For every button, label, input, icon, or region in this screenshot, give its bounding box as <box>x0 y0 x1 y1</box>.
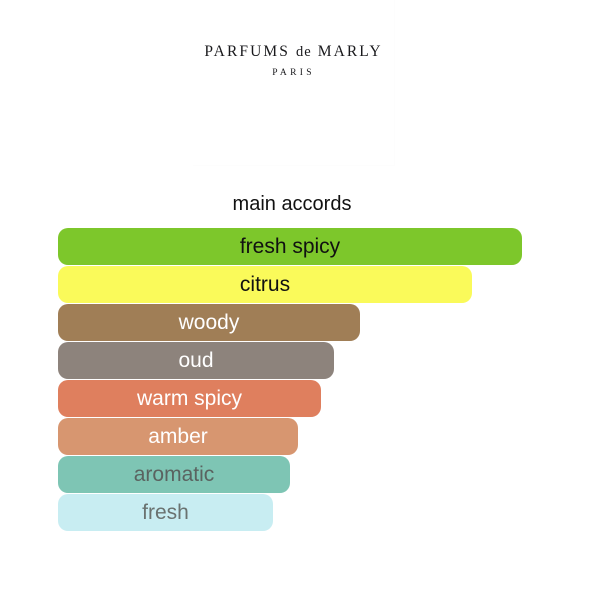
accord-bar-fill <box>58 418 298 455</box>
brand-name: PARFUMS de MARLY <box>193 44 394 60</box>
accord-bar-row[interactable]: citrus <box>0 266 600 303</box>
accord-bar-fill <box>58 228 522 265</box>
main-accords-chart: main accords fresh spicycitruswoodyoudwa… <box>0 191 600 532</box>
accord-bar-fill <box>58 266 472 303</box>
brand-city: PARIS <box>193 69 394 79</box>
accord-bar-row[interactable]: woody <box>0 304 600 341</box>
brand-logo: PARFUMS de MARLY PARIS <box>193 44 394 78</box>
brand-name-de: de <box>296 44 312 60</box>
accord-bar-fill <box>58 304 360 341</box>
chart-title: main accords <box>0 191 600 217</box>
accord-bar-row[interactable]: warm spicy <box>0 380 600 417</box>
accord-bar-fill <box>58 494 273 531</box>
accord-bar-fill <box>58 456 290 493</box>
accord-bar-row[interactable]: fresh <box>0 494 600 531</box>
brand-logo-card: PARFUMS de MARLY PARIS <box>193 0 395 166</box>
accord-bar-row[interactable]: oud <box>0 342 600 379</box>
accord-bar-fill <box>58 380 321 417</box>
brand-name-part2: MARLY <box>318 43 383 60</box>
brand-name-part1: PARFUMS <box>204 43 290 60</box>
accord-bar-fill <box>58 342 334 379</box>
accord-bars-list: fresh spicycitruswoodyoudwarm spicyamber… <box>0 228 600 531</box>
accord-bar-row[interactable]: fresh spicy <box>0 228 600 265</box>
accord-bar-row[interactable]: aromatic <box>0 456 600 493</box>
accord-bar-row[interactable]: amber <box>0 418 600 455</box>
